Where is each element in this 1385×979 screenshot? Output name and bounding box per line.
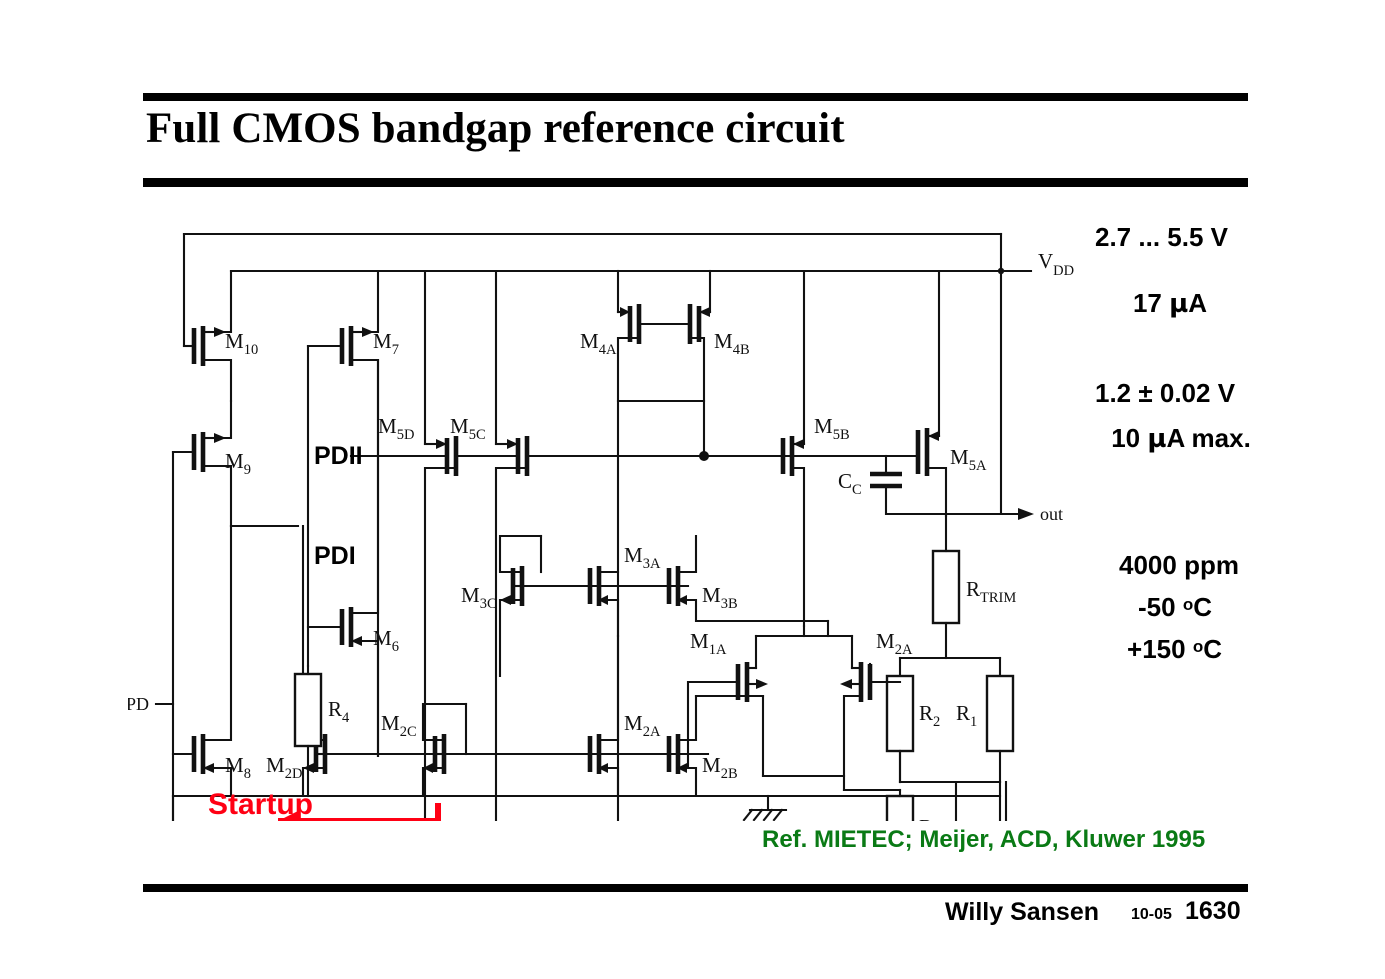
m2a-source-wire bbox=[599, 768, 618, 796]
startup-label: Startup bbox=[208, 788, 313, 822]
transistor-m4b bbox=[639, 271, 710, 456]
m3c-source-wire bbox=[500, 600, 522, 676]
label-m4b: M4B bbox=[714, 329, 750, 358]
spec-output-current-value: 10 bbox=[1111, 423, 1147, 453]
label-vdd: VDD bbox=[1038, 249, 1074, 279]
m5b-arrow bbox=[793, 439, 804, 449]
r4-body bbox=[295, 674, 321, 746]
spec-temp-max: +150 oC bbox=[1093, 634, 1256, 665]
label-m4a: M4A bbox=[580, 329, 617, 358]
transistor-m10 bbox=[184, 271, 231, 401]
resistor-rtrim bbox=[933, 516, 959, 658]
spec-supply-voltage: 2.7 ... 5.5 V bbox=[1095, 222, 1228, 253]
m9-drain-wire bbox=[203, 466, 231, 526]
label-pd: PD bbox=[128, 694, 149, 714]
label-m6: M6 bbox=[373, 626, 399, 655]
label-m10: M10 bbox=[225, 329, 258, 358]
m9-source-wire bbox=[203, 401, 231, 438]
label-r4: R4 bbox=[328, 697, 350, 726]
footer-author: Willy Sansen bbox=[945, 898, 1099, 927]
title-rule-top bbox=[143, 93, 1248, 101]
m6-source-wire bbox=[351, 641, 378, 756]
label-m3a: M3A bbox=[624, 543, 661, 572]
label-m5b: M5B bbox=[814, 414, 850, 443]
label-m2c: M2C bbox=[381, 711, 417, 740]
spec-temp-max-unit: C bbox=[1203, 634, 1222, 664]
label-m8: M8 bbox=[225, 753, 251, 782]
gnd-h3 bbox=[764, 810, 772, 820]
gnd-h2 bbox=[754, 810, 762, 820]
rptat-body bbox=[887, 796, 913, 821]
spec-temp-coefficient: 4000 ppm bbox=[1095, 550, 1263, 581]
slide-root: Full CMOS bandgap reference circuit 2.7 … bbox=[0, 0, 1385, 979]
label-m3b: M3B bbox=[702, 583, 738, 612]
transistor-m8 bbox=[173, 526, 231, 796]
m2a-drain-wire bbox=[599, 636, 618, 740]
cc-bottom-wire bbox=[886, 486, 946, 514]
bipolar-q1 bbox=[956, 782, 1006, 821]
m10-drain-wire bbox=[203, 360, 231, 401]
junction-m4b-pdii bbox=[699, 451, 709, 461]
degree-icon: o bbox=[1193, 637, 1203, 656]
m3a-source-wire bbox=[599, 600, 618, 636]
m7-source-wire bbox=[351, 271, 378, 332]
rtrim-body bbox=[933, 551, 959, 623]
transistor-m2a bbox=[590, 636, 618, 796]
reference-citation: Ref. MIETEC; Meijer, ACD, Kluwer 1995 bbox=[762, 826, 1205, 854]
m6-drain-wire bbox=[351, 360, 378, 613]
label-m5a: M5A bbox=[950, 445, 987, 474]
circuit-svg: VDD M10 M9 PD bbox=[128, 196, 1078, 821]
label-m9: M9 bbox=[225, 449, 251, 478]
spec-supply-current-unit: A bbox=[1188, 288, 1207, 318]
label-m2b: M2B bbox=[702, 753, 738, 782]
footer-slide-number: 1630 bbox=[1185, 897, 1241, 926]
m1a-arrow bbox=[756, 679, 768, 689]
label-pdii: PDII bbox=[314, 442, 363, 470]
micro-symbol: µ bbox=[1169, 289, 1188, 319]
circuit-diagram: VDD M10 M9 PD bbox=[128, 196, 1078, 821]
m9-arrow bbox=[214, 433, 226, 443]
spec-output-current-unit: A max. bbox=[1167, 423, 1251, 453]
label-m1a: M1A bbox=[690, 629, 727, 658]
output-arrow-icon bbox=[1018, 508, 1034, 520]
micro-symbol: µ bbox=[1147, 424, 1166, 454]
spec-supply-current-value: 17 bbox=[1133, 288, 1169, 318]
m2c-source-wire bbox=[423, 768, 444, 796]
transistor-m5b bbox=[783, 271, 804, 626]
m3b-drain-wire bbox=[678, 536, 696, 572]
m5a-drain-wire bbox=[927, 468, 946, 516]
footer-rule bbox=[143, 884, 1248, 892]
m8-drain-wire bbox=[203, 526, 231, 740]
transistor-m5d bbox=[425, 271, 456, 821]
label-rptat: RPTAT bbox=[919, 815, 967, 821]
gnd-h1 bbox=[744, 810, 752, 820]
m4b-drain-wire bbox=[690, 338, 704, 456]
label-m5d: M5D bbox=[378, 414, 414, 443]
m10-source-wire bbox=[203, 271, 231, 332]
label-out: out bbox=[1040, 504, 1063, 524]
spec-output-current: 10 µA max. bbox=[1095, 423, 1267, 454]
degree-icon: o bbox=[1183, 595, 1193, 614]
m2adiff-arrow bbox=[840, 679, 852, 689]
ground-symbol-icon bbox=[744, 796, 786, 820]
gnd-h4 bbox=[774, 810, 782, 820]
title-rule-bottom bbox=[143, 178, 1248, 187]
m1a-drain-wire bbox=[747, 696, 763, 776]
spec-temp-min-value: -50 bbox=[1138, 592, 1183, 622]
label-r1: R1 bbox=[956, 701, 977, 730]
m3b-source-wire bbox=[678, 600, 828, 621]
label-m2d: M2D bbox=[266, 753, 302, 782]
label-cc: CC bbox=[838, 469, 862, 498]
m5b-drain-wire bbox=[792, 468, 804, 626]
spec-temp-min-unit: C bbox=[1193, 592, 1212, 622]
label-r2: R2 bbox=[919, 701, 940, 730]
page-title: Full CMOS bandgap reference circuit bbox=[146, 104, 845, 153]
r2-body bbox=[887, 676, 913, 751]
transistor-m5a bbox=[788, 271, 946, 516]
m3c-arrow bbox=[500, 595, 511, 605]
m2adiff-drain-wire bbox=[844, 696, 861, 790]
label-m7: M7 bbox=[373, 329, 399, 358]
footer-date: 10-05 bbox=[1131, 906, 1172, 924]
label-rtrim: RTRIM bbox=[966, 577, 1016, 606]
r1-body bbox=[987, 676, 1013, 751]
resistor-rptat bbox=[887, 790, 913, 821]
m4a-drain-wire bbox=[618, 338, 704, 401]
m5a-arrow bbox=[928, 431, 939, 441]
spec-supply-current: 17 µA bbox=[1095, 288, 1245, 319]
spec-temp-min: -50 oC bbox=[1095, 592, 1255, 623]
label-m2a: M2A bbox=[624, 711, 661, 740]
spec-output-voltage: 1.2 ± 0.02 V bbox=[1095, 378, 1235, 409]
label-m3c: M3C bbox=[461, 583, 497, 612]
spec-temp-max-value: +150 bbox=[1127, 634, 1193, 664]
label-pdi: PDI bbox=[314, 542, 356, 570]
capacitor-cc bbox=[870, 456, 946, 514]
label-m2a-diff: M2A bbox=[876, 629, 913, 658]
resistor-r1 bbox=[987, 676, 1013, 782]
transistor-m3a bbox=[590, 566, 618, 636]
